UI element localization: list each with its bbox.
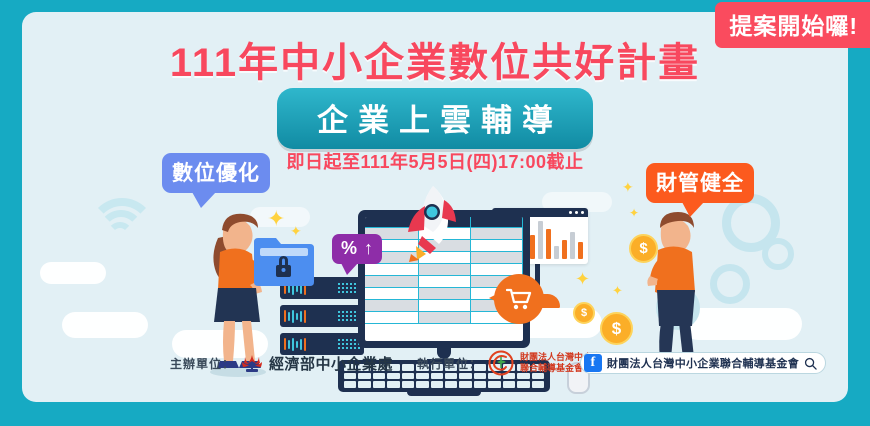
percent-label: % [341, 238, 357, 259]
coin-symbol: $ [639, 240, 647, 257]
facebook-search-pill[interactable]: f 財團法人台灣中小企業聯合輔導基金會 [580, 352, 826, 374]
rocket-icon [400, 184, 458, 267]
bubble-financial-health: 財管健全 [646, 163, 754, 203]
exec-name-line2: 聯合輔導基金會 [520, 363, 583, 373]
shopping-cart-badge [494, 274, 544, 324]
sme-foundation-logo-icon [488, 350, 514, 376]
host-label: 主辦單位： [170, 355, 235, 372]
search-icon[interactable] [804, 357, 817, 370]
coin-symbol: $ [581, 307, 587, 319]
facebook-icon: f [584, 354, 602, 372]
wifi-icon [107, 222, 133, 248]
exec-label: 執行單位： [417, 355, 482, 372]
host-organization-name: 經濟部中小企業處 [269, 353, 393, 374]
banner-panel: ✦ ✦ ✦ ✦ ✦ ✦ 111年中小企業數位共好計畫 企業上雲輔導 即日起至11… [22, 12, 848, 402]
arrow-up-icon: ↑ [364, 238, 373, 259]
host-organization-group: 主辦單位： 經濟部中小企業處 [170, 353, 393, 374]
facebook-page-name: 財團法人台灣中小企業聯合輔導基金會 [607, 355, 799, 371]
cart-icon [506, 287, 532, 311]
coin-icon: $ [600, 312, 633, 345]
bubble-digital-optimization: 數位優化 [162, 153, 270, 193]
moea-logo-icon [241, 353, 263, 373]
cloud-decoration [62, 312, 148, 338]
bubble-percent-growth: % ↑ [332, 234, 382, 264]
gear-icon [710, 264, 750, 304]
sparkle-icon: ✦ [622, 180, 634, 194]
footer-bar: 主辦單位： 經濟部中小企業處 執行單位： [22, 348, 848, 378]
coin-icon: $ [629, 234, 658, 263]
server-rack [280, 305, 364, 327]
secure-folder-icon [252, 234, 314, 291]
cloud-decoration [40, 262, 106, 284]
sparkle-icon: ✦ [575, 270, 590, 288]
promo-banner: ✦ ✦ ✦ ✦ ✦ ✦ 111年中小企業數位共好計畫 企業上雲輔導 即日起至11… [0, 0, 870, 426]
sparkle-icon: ✦ [612, 284, 623, 297]
subtitle-badge: 企業上雲輔導 [277, 88, 593, 149]
coin-icon: $ [573, 302, 595, 324]
gear-icon [762, 238, 794, 270]
sparkle-icon: ✦ [629, 207, 639, 219]
status-badge-ribbon: 提案開始囉! [715, 2, 870, 48]
coin-symbol: $ [612, 319, 621, 339]
